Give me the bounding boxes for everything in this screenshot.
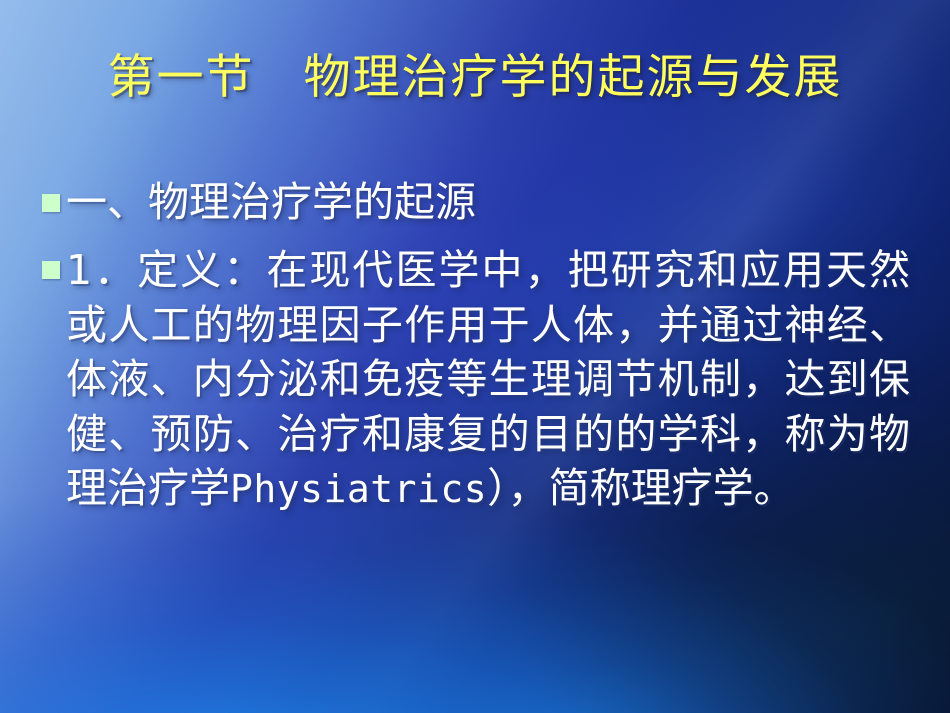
square-bullet-icon bbox=[42, 261, 60, 279]
bullet-item-origin: 一、物理治疗学的起源 bbox=[42, 176, 910, 229]
square-bullet-icon bbox=[42, 194, 60, 212]
slide-title: 第一节 物理治疗学的起源与发展 bbox=[0, 52, 950, 105]
slide-body: 一、物理治疗学的起源 1．定义：在现代医学中，把研究和应用天然或人工的物理因子作… bbox=[42, 176, 910, 522]
bullet-item-definition: 1．定义：在现代医学中，把研究和应用天然或人工的物理因子作用于人体，并通过神经、… bbox=[42, 243, 910, 516]
bullet-item-origin-label: 一、物理治疗学的起源 bbox=[66, 176, 910, 229]
slide-canvas: 第一节 物理治疗学的起源与发展 一、物理治疗学的起源 1．定义：在现代医学中，把… bbox=[0, 0, 950, 713]
definition-latin-term: Physiatrics bbox=[230, 467, 487, 511]
bullet-item-definition-label: 1．定义：在现代医学中，把研究和应用天然或人工的物理因子作用于人体，并通过神经、… bbox=[66, 243, 910, 516]
slide-content: 第一节 物理治疗学的起源与发展 一、物理治疗学的起源 1．定义：在现代医学中，把… bbox=[0, 0, 950, 713]
definition-text-after: ），简称理疗学。 bbox=[487, 464, 795, 512]
